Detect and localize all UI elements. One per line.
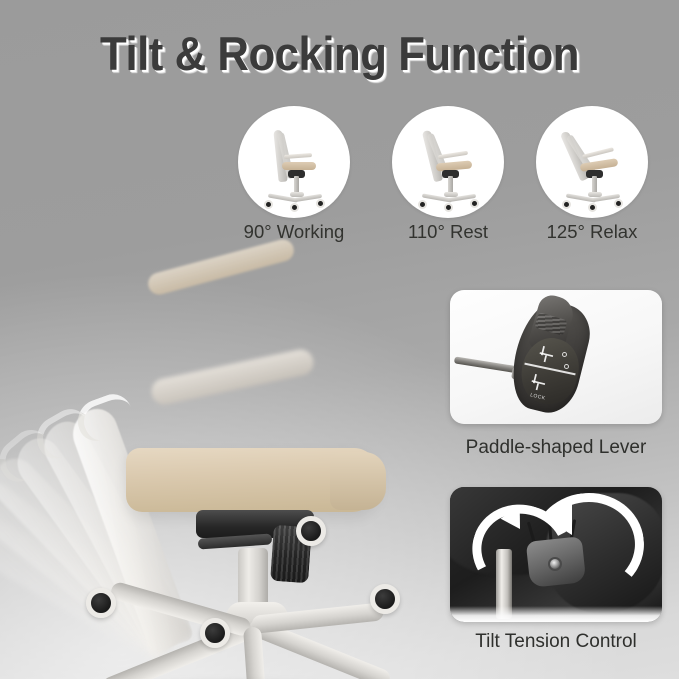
angle-preset-2-label: 125° Relax	[520, 221, 664, 243]
feature-caption-tilt-tension: Tilt Tension Control	[440, 631, 672, 653]
angle-preset-0[interactable]: 90° Working	[238, 106, 350, 218]
angle-preset-1-label: 110° Rest	[376, 221, 520, 243]
caster-4	[296, 516, 326, 546]
page-title: Tilt & Rocking Function	[24, 26, 655, 81]
infographic-canvas: Tilt & Rocking Function	[0, 0, 679, 679]
lever-indicator-dot-2	[564, 364, 569, 369]
gas-lift-cylinder	[238, 548, 268, 610]
feature-caption-paddle-lever: Paddle-shaped Lever	[440, 437, 672, 459]
caster-1	[86, 588, 116, 618]
rotation-arrow-head-large	[542, 497, 572, 535]
angle-preset-0-thumbnail	[238, 106, 350, 218]
chair-relaxed-icon	[536, 106, 648, 218]
lever-indicator-dot-1	[562, 352, 567, 357]
caster-3	[370, 584, 400, 614]
chair-upright-icon	[238, 106, 350, 218]
angle-preset-1[interactable]: 110° Rest	[392, 106, 504, 218]
angle-preset-1-thumbnail	[392, 106, 504, 218]
angle-preset-2[interactable]: 125° Relax	[536, 106, 648, 218]
chair-reclined-icon	[392, 106, 504, 218]
caster-2	[200, 618, 230, 648]
feature-panel-tilt-tension[interactable]	[450, 487, 662, 622]
angle-preset-0-label: 90° Working	[222, 221, 366, 243]
angle-preset-2-thumbnail	[536, 106, 648, 218]
angle-preset-row: 90° Working 110° Re	[232, 106, 660, 251]
tension-floor-highlight	[450, 606, 662, 622]
seat-front-edge	[330, 452, 386, 510]
feature-panel-paddle-lever[interactable]: LOCK	[450, 290, 662, 424]
